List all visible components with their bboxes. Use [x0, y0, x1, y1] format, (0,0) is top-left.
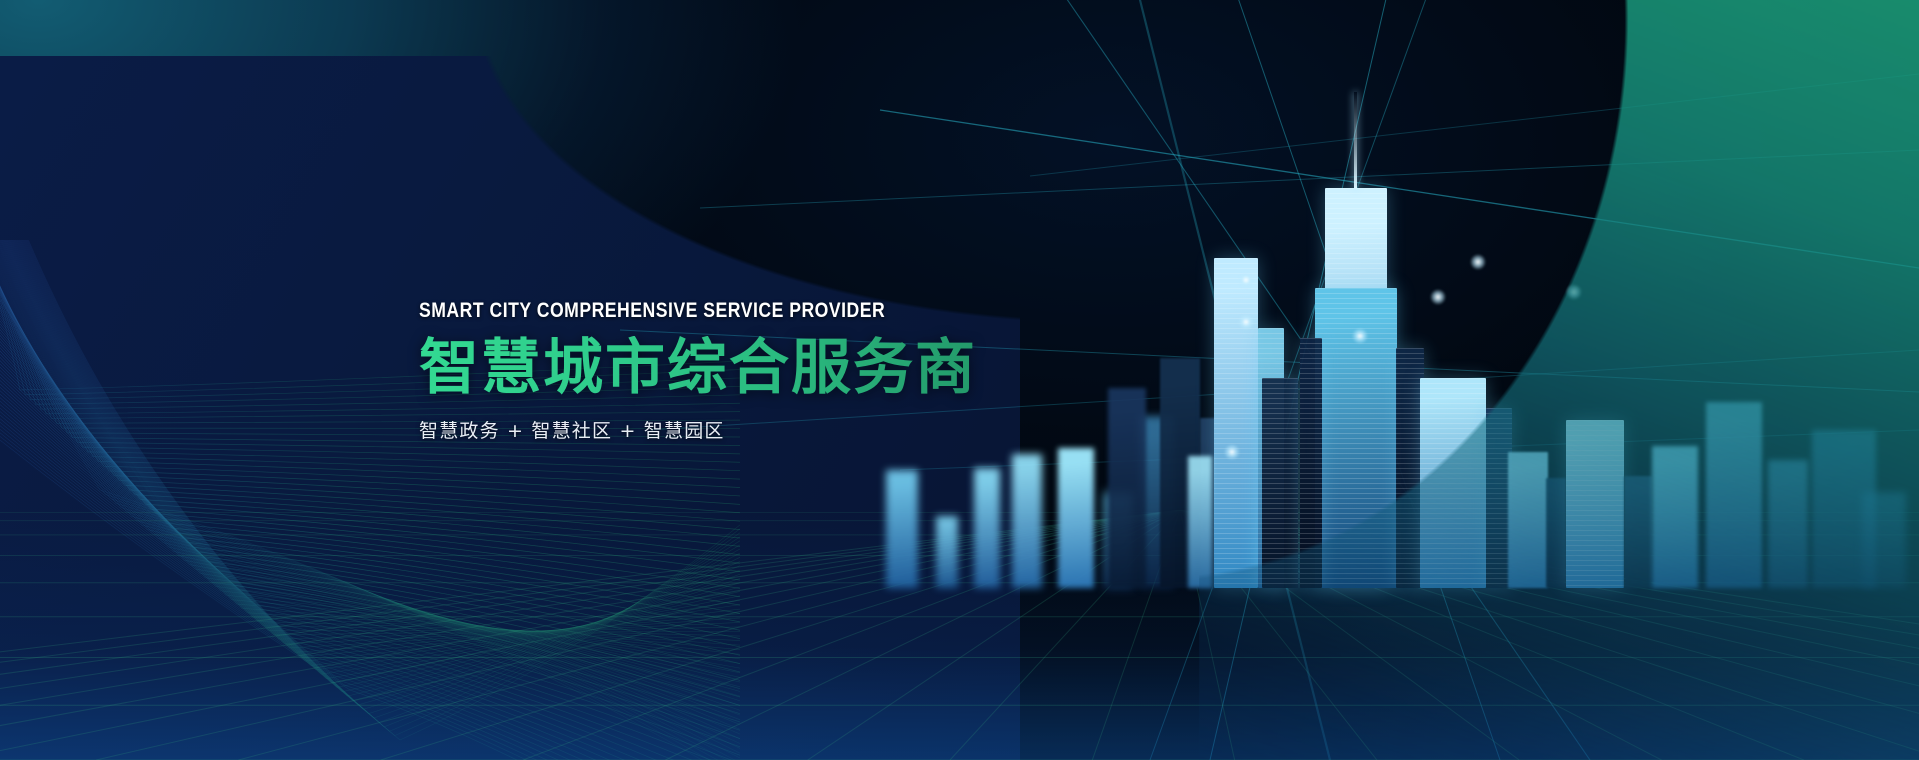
building-bar-c	[974, 468, 1000, 588]
headline-block: SMART CITY COMPREHENSIVE SERVICE PROVIDE…	[419, 300, 1179, 443]
eyebrow-text: SMART CITY COMPREHENSIVE SERVICE PROVIDE…	[419, 300, 1042, 322]
page-title: 智慧城市综合服务商	[419, 336, 1179, 401]
subtitle-text: 智慧政务 + 智慧社区 + 智慧园区	[419, 416, 1179, 443]
building-bar-d	[1012, 454, 1042, 588]
hero-banner: SMART CITY COMPREHENSIVE SERVICE PROVIDE…	[0, 0, 1919, 760]
green-curve-overlay	[1199, 0, 1919, 760]
building-bar-e	[1058, 448, 1094, 588]
building-bar-b	[936, 516, 958, 588]
building-bar-a	[886, 470, 918, 588]
